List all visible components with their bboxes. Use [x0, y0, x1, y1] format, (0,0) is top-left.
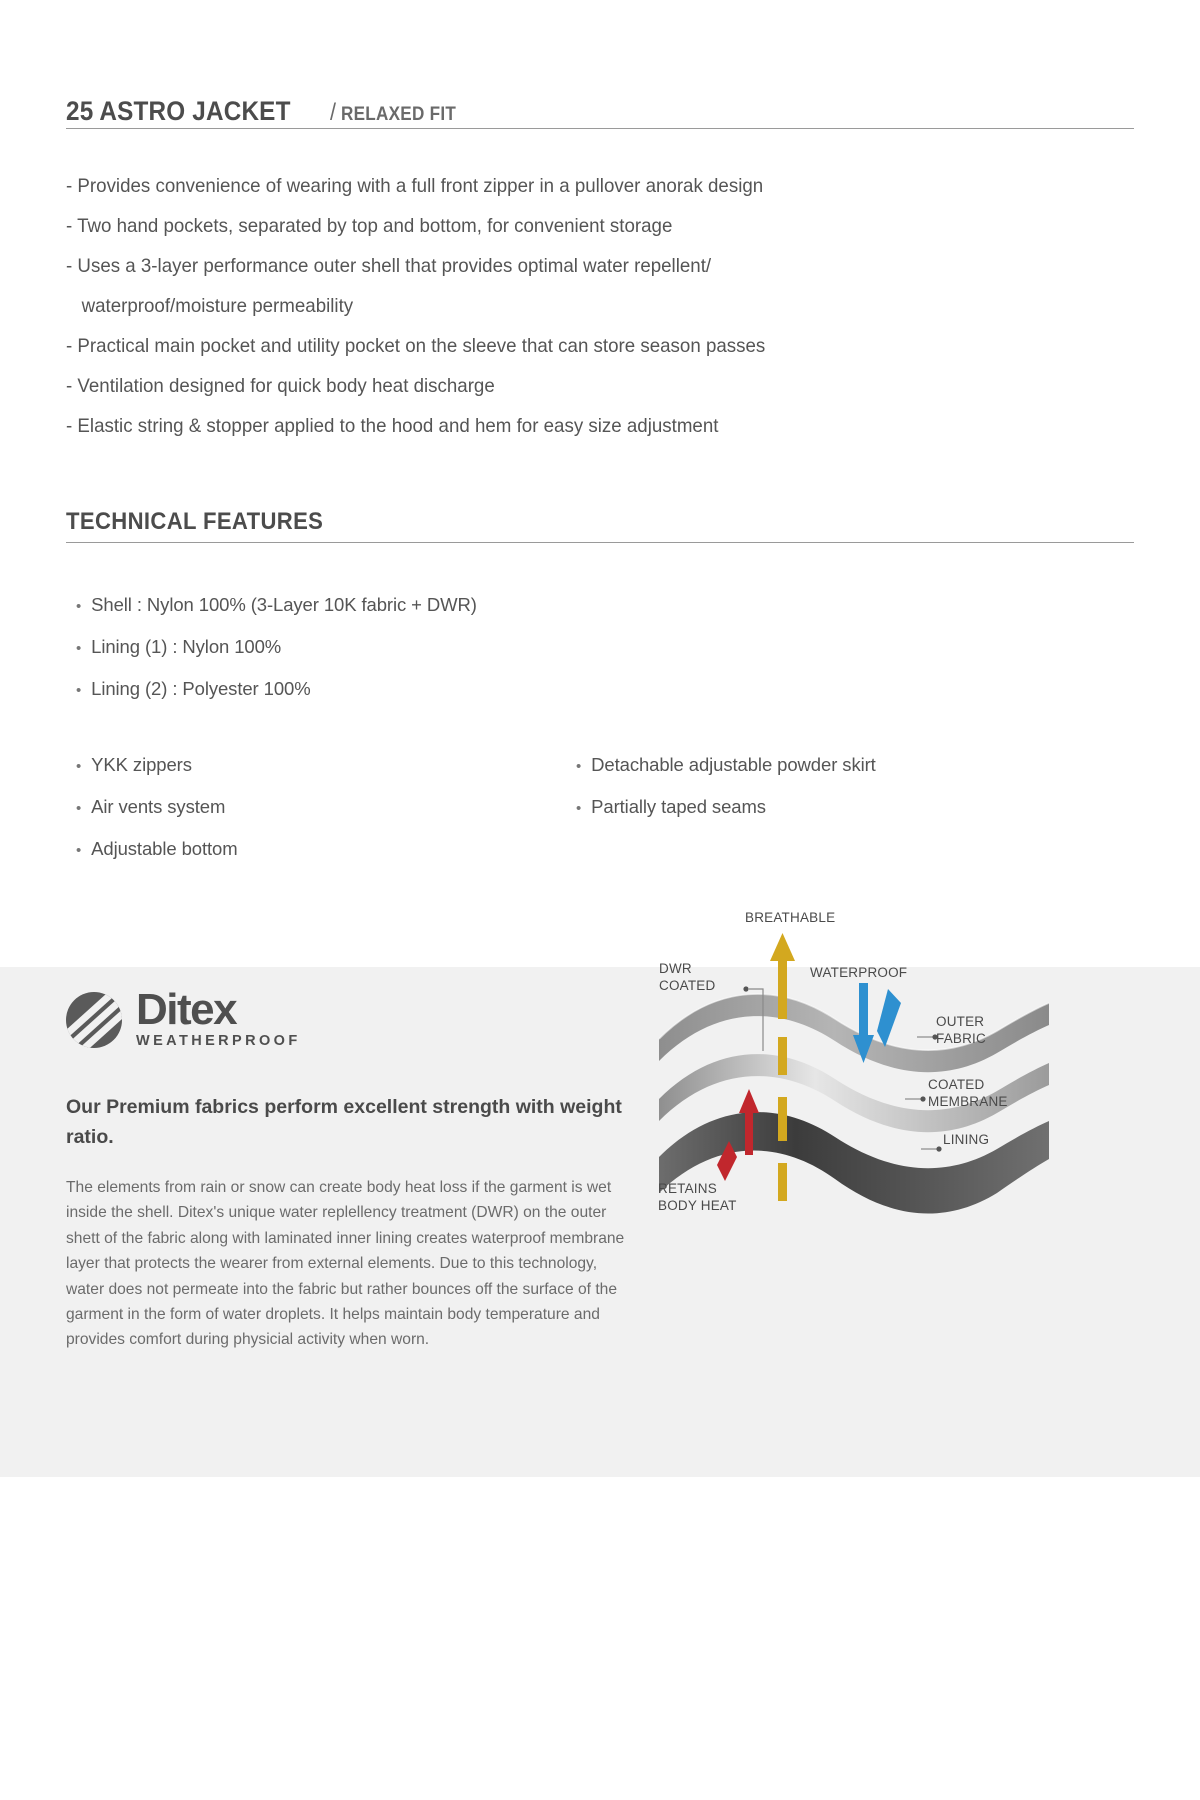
performance-scale-chart: BREATHABILITY WATERPROOF 1K5K8K10K15K20K: [0, 1477, 1200, 1800]
feature-text: Air vents system: [91, 796, 225, 817]
label-coated-membrane: COATED MEMBRANE: [928, 1077, 1008, 1110]
bullet-icon: •: [76, 758, 81, 775]
feature-column-left: •YKK zippers •Air vents system •Adjustab…: [76, 745, 576, 871]
label-breathable: BREATHABLE: [745, 910, 835, 927]
title-divider: [66, 128, 1134, 129]
bullet-icon: •: [76, 800, 81, 817]
material-text: Lining (1) : Nylon 100%: [91, 636, 281, 657]
feature-text: Detachable adjustable powder skirt: [591, 754, 876, 775]
materials-list: •Shell : Nylon 100% (3-Layer 10K fabric …: [76, 585, 477, 711]
feature-text: Adjustable bottom: [91, 838, 237, 859]
list-item: - Uses a 3-layer performance outer shell…: [66, 246, 1103, 286]
list-item: •Lining (2) : Polyester 100%: [76, 669, 477, 711]
label-outer-fabric: OUTER FABRIC: [936, 1014, 986, 1047]
panel-headline: Our Premium fabrics perform excellent st…: [66, 1092, 646, 1152]
bullet-icon: •: [76, 842, 81, 859]
ditex-mark-icon: [66, 992, 122, 1048]
feature-columns: •YKK zippers •Air vents system •Adjustab…: [76, 745, 1116, 871]
bullet-icon: •: [76, 598, 81, 615]
panel-body-text: The elements from rain or snow can creat…: [66, 1175, 626, 1353]
label-waterproof: WATERPROOF: [810, 965, 907, 982]
logo-wordmark: Ditex WEATHERPROOF: [136, 989, 301, 1050]
product-spec-sheet: 25 ASTRO JACKET / RELAXED FIT - Provides…: [0, 0, 1200, 1800]
brand-tagline: WEATHERPROOF: [136, 1032, 301, 1050]
feature-column-right: •Detachable adjustable powder skirt •Par…: [576, 745, 1096, 871]
layer-outer-fabric: [659, 994, 1049, 1072]
list-item: •Detachable adjustable powder skirt: [576, 745, 1096, 787]
label-retains-body-heat: RETAINS BODY HEAT: [658, 1181, 737, 1214]
list-item: •Adjustable bottom: [76, 829, 576, 871]
label-dwr-coated: DWR COATED: [659, 961, 715, 994]
bullet-icon: •: [76, 640, 81, 657]
bullet-icon: •: [576, 800, 581, 817]
technical-features-heading: TECHNICAL FEATURES: [66, 508, 323, 536]
list-item: •YKK zippers: [76, 745, 576, 787]
material-text: Lining (2) : Polyester 100%: [91, 678, 310, 699]
list-item: •Shell : Nylon 100% (3-Layer 10K fabric …: [76, 585, 477, 627]
list-item: - Two hand pockets, separated by top and…: [66, 206, 1103, 246]
product-name: 25 ASTRO JACKET: [66, 96, 291, 127]
ditex-technology-panel: Ditex WEATHERPROOF Our Premium fabrics p…: [0, 967, 1200, 1477]
bullet-icon: •: [576, 758, 581, 775]
list-item: waterproof/moisture permeability: [66, 286, 1103, 326]
feature-list: - Provides convenience of wearing with a…: [66, 166, 1146, 446]
list-item: - Practical main pocket and utility pock…: [66, 326, 1103, 366]
ditex-logo: Ditex WEATHERPROOF: [66, 989, 301, 1050]
brand-name: Ditex: [136, 989, 301, 1031]
bullet-icon: •: [76, 682, 81, 699]
product-overview-section: 25 ASTRO JACKET / RELAXED FIT - Provides…: [0, 0, 1200, 967]
fabric-layer-diagram: BREATHABLE DWR COATED WATERPROOF OUTER F…: [645, 927, 1155, 1347]
feature-text: YKK zippers: [91, 754, 192, 775]
product-fit: RELAXED FIT: [341, 104, 456, 126]
technical-divider: [66, 542, 1134, 543]
list-item: •Partially taped seams: [576, 787, 1096, 829]
title-separator: /: [330, 99, 336, 127]
material-text: Shell : Nylon 100% (3-Layer 10K fabric +…: [91, 594, 477, 615]
label-lining: LINING: [943, 1132, 989, 1149]
list-item: - Elastic string & stopper applied to th…: [66, 406, 1103, 446]
list-item: •Lining (1) : Nylon 100%: [76, 627, 477, 669]
page-title: 25 ASTRO JACKET / RELAXED FIT: [66, 96, 1134, 127]
fabric-diagram-svg: [645, 927, 1155, 1347]
list-item: - Provides convenience of wearing with a…: [66, 166, 1103, 206]
feature-text: Partially taped seams: [591, 796, 766, 817]
list-item: •Air vents system: [76, 787, 576, 829]
list-item: - Ventilation designed for quick body he…: [66, 366, 1103, 406]
